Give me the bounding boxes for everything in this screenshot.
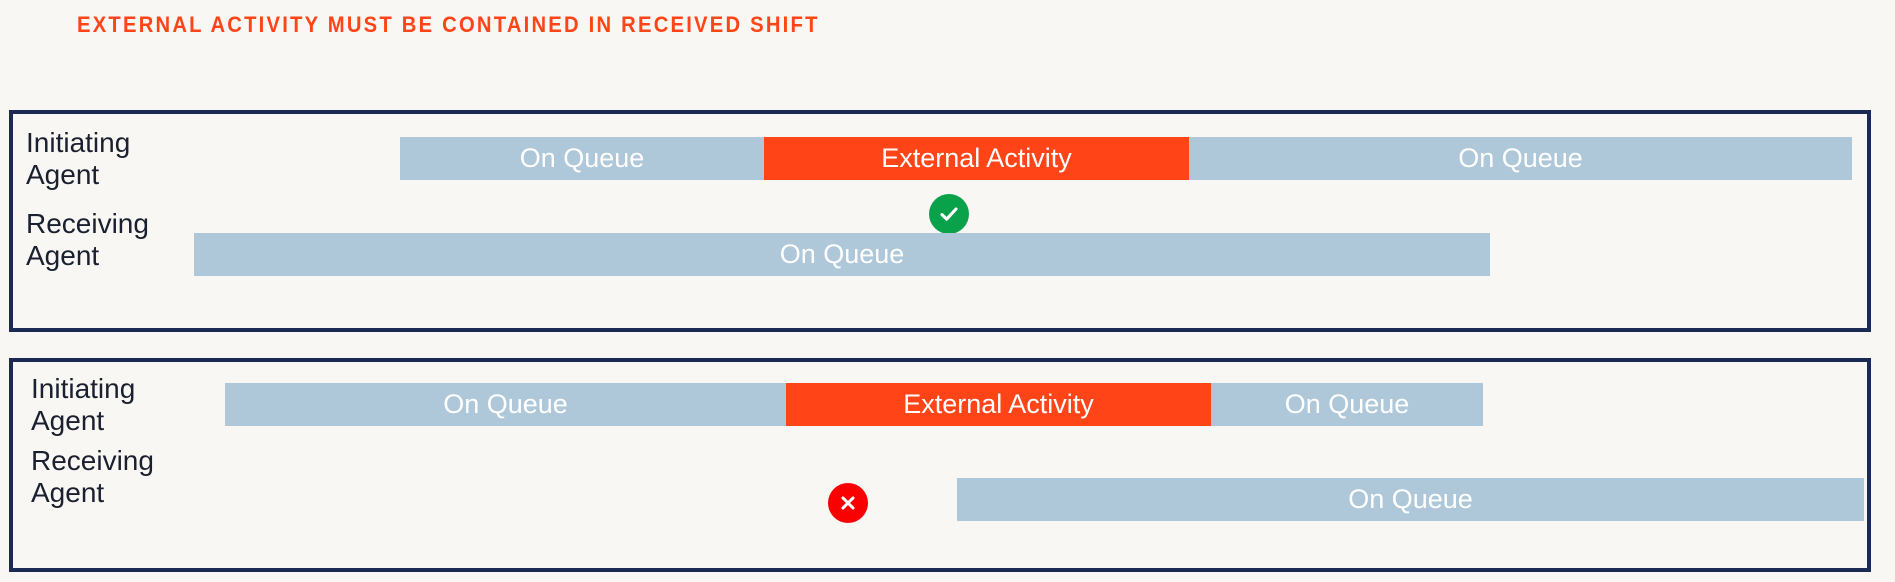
on-queue-segment: On Queue (1189, 137, 1852, 180)
on-queue-segment: On Queue (1211, 383, 1483, 426)
check-circle-icon (929, 194, 969, 234)
external-activity-segment: External Activity (764, 137, 1189, 180)
on-queue-segment: On Queue (957, 478, 1864, 521)
x-circle-icon (828, 483, 868, 523)
external-activity-segment: External Activity (786, 383, 1211, 426)
on-queue-segment: On Queue (400, 137, 764, 180)
page-title: EXTERNAL ACTIVITY MUST BE CONTAINED IN R… (77, 12, 820, 38)
on-queue-segment: On Queue (194, 233, 1490, 276)
initiating-agent-label: Initiating Agent (26, 127, 130, 190)
on-queue-segment: On Queue (225, 383, 786, 426)
receiving-agent-label: Receiving Agent (31, 445, 154, 508)
invalid-example-panel: Initiating Agent On Queue External Activ… (9, 358, 1871, 572)
valid-example-panel: Initiating Agent On Queue External Activ… (9, 110, 1871, 332)
receiving-agent-label: Receiving Agent (26, 208, 149, 271)
initiating-agent-label: Initiating Agent (31, 373, 135, 436)
